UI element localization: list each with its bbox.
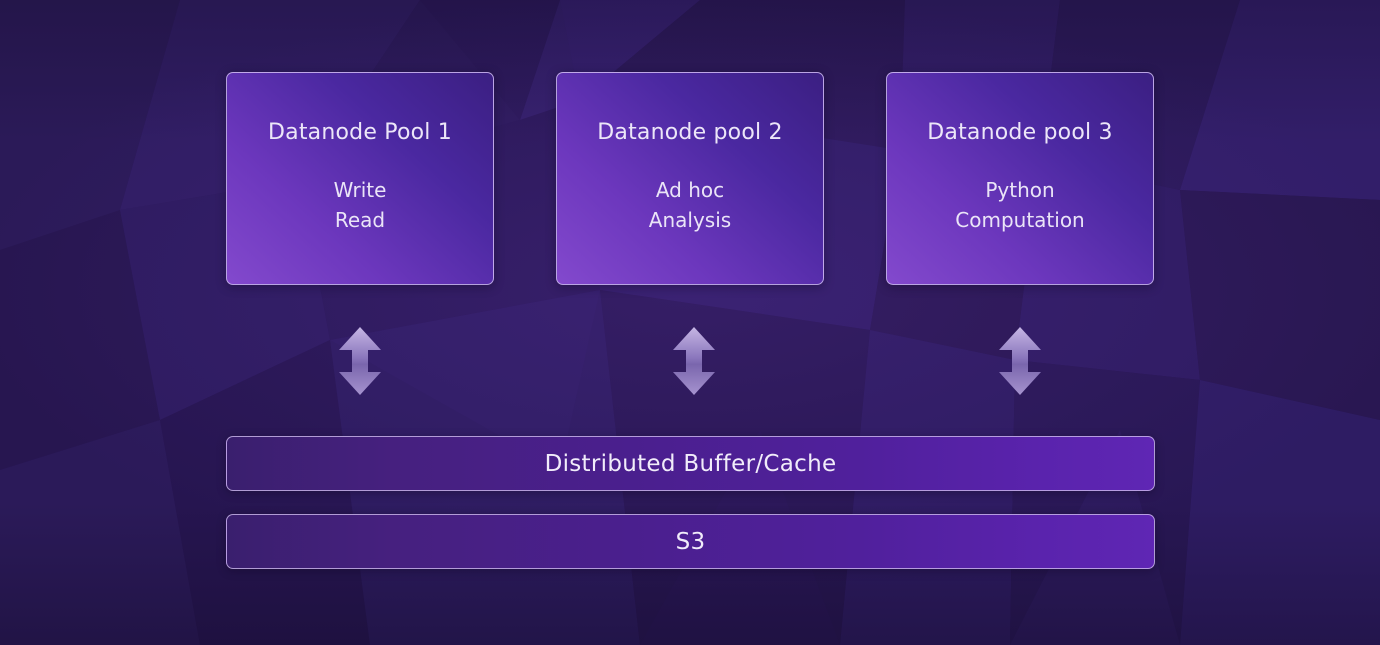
bidirectional-arrow-icon-pool-1 bbox=[337, 326, 383, 396]
diagram-content: Datanode Pool 1 Write Read Datanode pool… bbox=[0, 0, 1380, 645]
datanode-pool-3-subtitle: Python Computation bbox=[955, 175, 1084, 235]
datanode-pool-1-line-1: Write bbox=[334, 175, 387, 205]
datanode-pool-3-line-1: Python bbox=[955, 175, 1084, 205]
datanode-pool-3-title: Datanode pool 3 bbox=[927, 119, 1112, 147]
datanode-pool-2-title: Datanode pool 2 bbox=[597, 119, 782, 147]
s3-label: S3 bbox=[676, 528, 706, 556]
s3-bar[interactable]: S3 bbox=[226, 514, 1155, 569]
datanode-pool-2-subtitle: Ad hoc Analysis bbox=[649, 175, 731, 235]
datanode-pool-1-line-2: Read bbox=[334, 205, 387, 235]
distributed-buffer-cache-label: Distributed Buffer/Cache bbox=[545, 450, 837, 478]
bidirectional-arrow-icon-pool-3 bbox=[997, 326, 1043, 396]
bidirectional-arrow-icon-pool-2 bbox=[671, 326, 717, 396]
datanode-pool-3-line-2: Computation bbox=[955, 205, 1084, 235]
datanode-pool-3-box[interactable]: Datanode pool 3 Python Computation bbox=[886, 72, 1154, 285]
architecture-diagram-slide: Datanode Pool 1 Write Read Datanode pool… bbox=[0, 0, 1380, 645]
datanode-pool-2-line-2: Analysis bbox=[649, 205, 731, 235]
distributed-buffer-cache-bar[interactable]: Distributed Buffer/Cache bbox=[226, 436, 1155, 491]
datanode-pool-2-line-1: Ad hoc bbox=[649, 175, 731, 205]
datanode-pool-1-box[interactable]: Datanode Pool 1 Write Read bbox=[226, 72, 494, 285]
datanode-pool-1-subtitle: Write Read bbox=[334, 175, 387, 235]
datanode-pool-1-title: Datanode Pool 1 bbox=[268, 119, 452, 147]
datanode-pool-2-box[interactable]: Datanode pool 2 Ad hoc Analysis bbox=[556, 72, 824, 285]
